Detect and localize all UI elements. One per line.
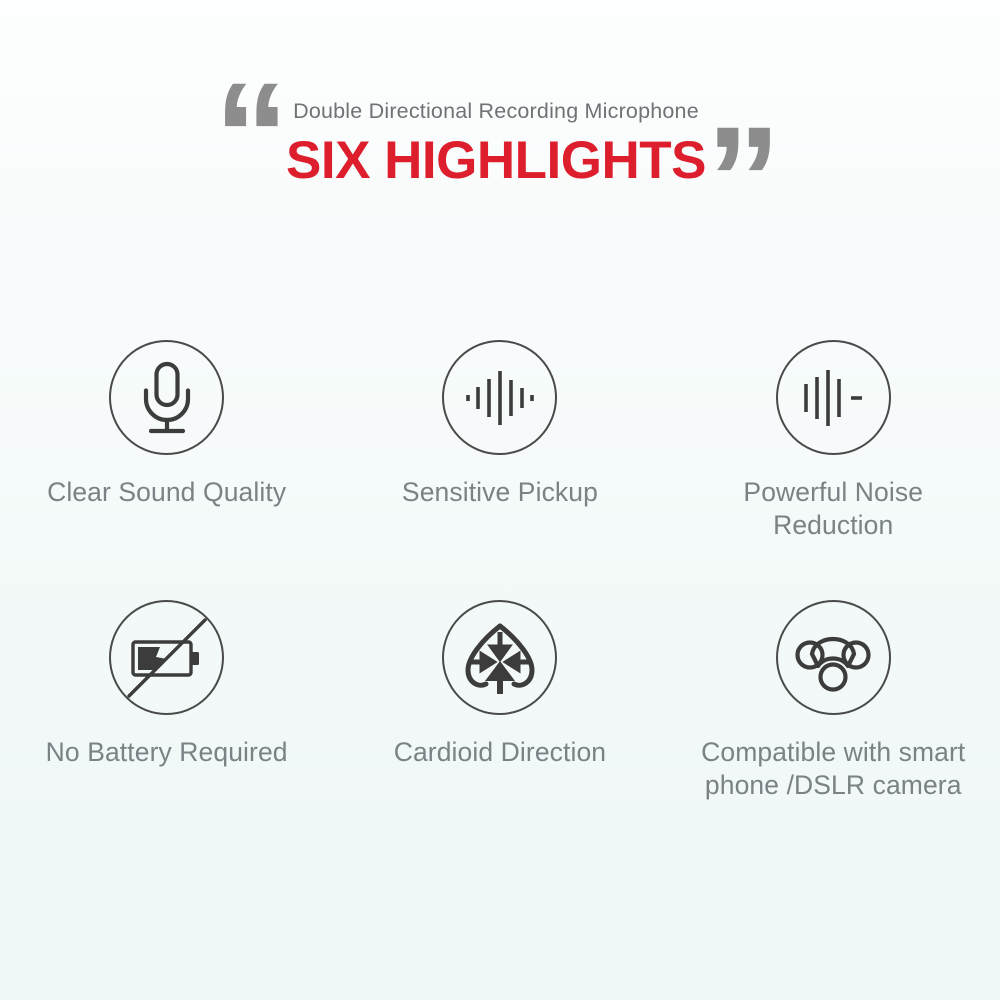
icon-circle bbox=[109, 600, 224, 715]
feature-item-device-compatibility: Compatible with smart phone /DSLR camera bbox=[667, 600, 1000, 860]
feature-item-powerful-noise-reduction: Powerful Noise Reduction bbox=[667, 340, 1000, 600]
highlights-infographic: “ Double Directional Recording Microphon… bbox=[0, 0, 1000, 1000]
sound-waveform-icon bbox=[463, 367, 537, 429]
quote-close-icon: ” bbox=[706, 104, 781, 254]
feature-label: Cardioid Direction bbox=[335, 736, 665, 769]
header: “ Double Directional Recording Microphon… bbox=[0, 96, 1000, 226]
icon-circle bbox=[776, 600, 891, 715]
feature-label: Sensitive Pickup bbox=[335, 476, 665, 509]
feature-label-line: Cardioid Direction bbox=[394, 737, 606, 767]
feature-label-line: Clear Sound Quality bbox=[47, 477, 286, 507]
feature-label: No Battery Required bbox=[0, 736, 339, 769]
feature-label: Powerful Noise Reduction bbox=[668, 476, 998, 542]
feature-label-line: Sensitive Pickup bbox=[402, 477, 598, 507]
feature-item-sensitive-pickup: Sensitive Pickup bbox=[333, 340, 666, 600]
feature-item-cardioid-direction: Cardioid Direction bbox=[333, 600, 666, 860]
icon-circle bbox=[442, 600, 557, 715]
header-subtitle: Double Directional Recording Microphone bbox=[286, 96, 706, 126]
feature-label-line: No Battery Required bbox=[46, 737, 288, 767]
feature-label-line: Reduction bbox=[668, 509, 998, 542]
feature-grid: Clear Sound Quality Sensitive Pic bbox=[0, 340, 1000, 860]
noise-reduction-waveform-icon bbox=[800, 367, 866, 429]
feature-label: Clear Sound Quality bbox=[2, 476, 332, 509]
feature-label-line: phone /DSLR camera bbox=[661, 769, 1000, 802]
feature-label-line: Powerful Noise bbox=[668, 476, 998, 509]
feature-item-no-battery-required: No Battery Required bbox=[0, 600, 333, 860]
feature-item-clear-sound-quality: Clear Sound Quality bbox=[0, 340, 333, 600]
cardioid-pattern-icon bbox=[460, 618, 540, 698]
header-text-block: Double Directional Recording Microphone … bbox=[286, 96, 706, 192]
no-battery-icon bbox=[116, 607, 218, 709]
feature-label: Compatible with smart phone /DSLR camera bbox=[661, 736, 1000, 802]
microphone-icon bbox=[132, 361, 202, 435]
icon-circle bbox=[776, 340, 891, 455]
feature-label-line: Compatible with smart bbox=[661, 736, 1000, 769]
device-compatibility-icon bbox=[793, 622, 873, 694]
icon-circle bbox=[442, 340, 557, 455]
page-title: SIX HIGHLIGHTS bbox=[286, 130, 706, 192]
icon-circle bbox=[109, 340, 224, 455]
quote-open-icon: “ bbox=[214, 60, 289, 210]
